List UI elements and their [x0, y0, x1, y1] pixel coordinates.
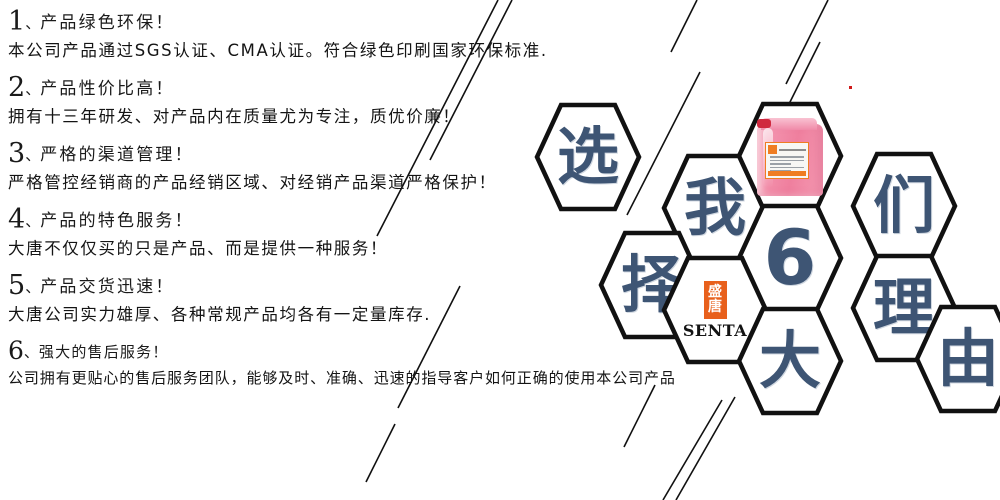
drum-label-title-bar — [779, 149, 806, 151]
hex-label-da: 大 — [736, 306, 844, 416]
reason-number: 1 — [8, 6, 25, 37]
reason-body: 拥有十三年研发、对产品内在质量尤为专注，质优价廉！ — [8, 108, 668, 127]
hex-cell-men[interactable]: 们 — [850, 151, 958, 261]
reason-number: 4 — [8, 204, 25, 235]
reason-body: 大唐不仅仅买的只是产品、而是提供一种服务！ — [8, 240, 668, 259]
reason-number: 2 — [8, 72, 25, 103]
drum-label-line — [770, 160, 804, 162]
reason-item-3: 3、严格的渠道管理！ 严格管控经销商的产品经销区域、对经销产品渠道严格保护！ — [8, 140, 668, 193]
reason-number: 6 — [8, 336, 24, 365]
hex-label-you: 由 — [914, 304, 1000, 414]
hex-label-men: 们 — [850, 151, 958, 261]
chemical-drum-icon — [755, 116, 825, 196]
hex-cell-product[interactable] — [736, 101, 844, 211]
drum-label-header — [768, 145, 806, 154]
drum-label-line — [770, 163, 791, 165]
reason-heading: 2、产品性价比高！ — [8, 74, 668, 101]
reason-number: 3 — [8, 138, 25, 169]
logo-box: 盛 唐 — [704, 281, 727, 319]
reason-separator: 、 — [25, 212, 40, 230]
reason-body: 严格管控经销商的产品经销区域、对经销产品渠道严格保护！ — [8, 174, 668, 193]
red-dot-marker — [849, 86, 852, 89]
reason-title: 产品交货迅速！ — [40, 277, 174, 297]
reason-item-6: 6、强大的售后服务！ 公司拥有更贴心的售后服务团队，能够及时、准确、迅速的指导客… — [8, 338, 668, 387]
reason-separator: 、 — [25, 80, 40, 98]
logo-char-tang: 唐 — [708, 300, 722, 315]
drum-label-line — [770, 167, 804, 169]
reason-separator: 、 — [24, 343, 39, 361]
reason-body: 本公司产品通过SGS认证、CMA认证。符合绿色印刷国家环保标准. — [8, 42, 668, 61]
reason-title: 严格的渠道管理！ — [40, 145, 194, 165]
promo-page: 1、产品绿色环保！ 本公司产品通过SGS认证、CMA认证。符合绿色印刷国家环保标… — [0, 0, 1000, 500]
reason-number: 5 — [8, 270, 25, 301]
reason-heading: 4、产品的特色服务！ — [8, 206, 668, 233]
drum-cap — [757, 119, 771, 128]
hex-cell-you[interactable]: 由 — [914, 304, 1000, 414]
reason-heading: 5、产品交货迅速！ — [8, 272, 668, 299]
drum-label — [765, 142, 809, 179]
logo-char-sheng: 盛 — [708, 285, 722, 300]
reason-heading: 3、严格的渠道管理！ — [8, 140, 668, 167]
reason-item-2: 2、产品性价比高！ 拥有十三年研发、对产品内在质量尤为专注，质优价廉！ — [8, 74, 668, 127]
reason-item-5: 5、产品交货迅速！ 大唐公司实力雄厚、各种常规产品均各有一定量库存. — [8, 272, 668, 325]
reason-separator: 、 — [25, 14, 40, 32]
drum-label-line — [770, 156, 804, 158]
reason-title: 产品性价比高！ — [40, 79, 174, 99]
hex-cell-da[interactable]: 大 — [736, 306, 844, 416]
reason-item-1: 1、产品绿色环保！ 本公司产品通过SGS认证、CMA认证。符合绿色印刷国家环保标… — [8, 8, 668, 61]
reason-heading: 6、强大的售后服务！ — [8, 338, 668, 363]
reason-title: 产品的特色服务！ — [40, 211, 194, 231]
product-image — [736, 101, 844, 211]
drum-label-logo-square — [768, 145, 777, 154]
reason-list: 1、产品绿色环保！ 本公司产品通过SGS认证、CMA认证。符合绿色印刷国家环保标… — [8, 8, 668, 400]
reason-separator: 、 — [25, 146, 40, 164]
drum-label-footer — [768, 171, 806, 176]
reason-heading: 1、产品绿色环保！ — [8, 8, 668, 35]
reason-item-4: 4、产品的特色服务！ 大唐不仅仅买的只是产品、而是提供一种服务！ — [8, 206, 668, 259]
reason-separator: 、 — [25, 278, 40, 296]
reason-title: 强大的售后服务！ — [39, 343, 169, 361]
reason-title: 产品绿色环保！ — [40, 13, 174, 33]
reason-body: 大唐公司实力雄厚、各种常规产品均各有一定量库存. — [8, 306, 668, 325]
reason-body: 公司拥有更贴心的售后服务团队，能够及时、准确、迅速的指导客户如何正确的使用本公司… — [8, 370, 668, 387]
